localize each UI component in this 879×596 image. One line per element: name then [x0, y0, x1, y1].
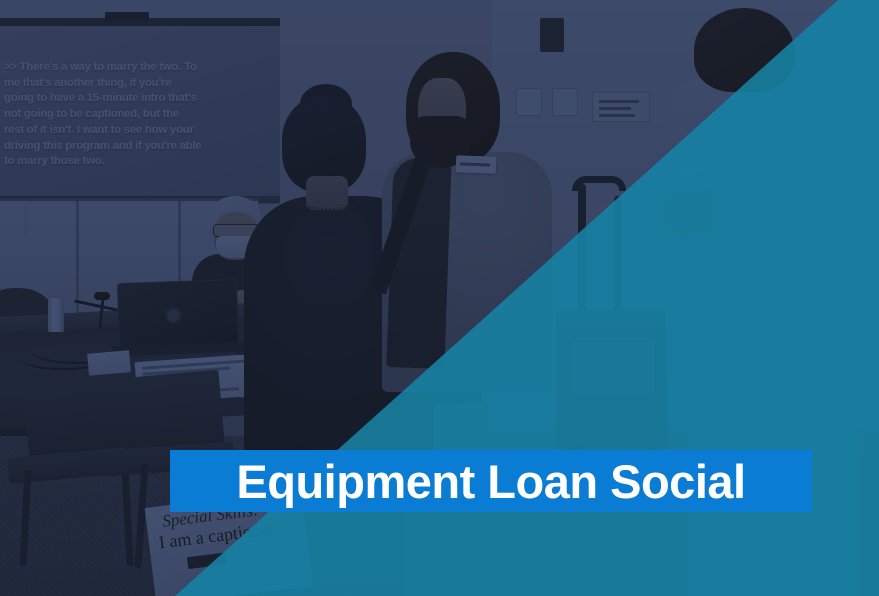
microphone-head [94, 292, 110, 300]
projector-screen: >> There's a way to marry the two. To me… [0, 26, 280, 202]
suitcase-handle-bar [578, 184, 586, 312]
projector-caption-text: >> There's a way to marry the two. To me… [4, 60, 204, 170]
wall-outlet [516, 88, 542, 116]
suitcase-handle-bar [614, 196, 621, 312]
title-banner-text: Equipment Loan Social [236, 458, 745, 505]
wall-switch-plate [540, 18, 564, 52]
name-badge [456, 155, 497, 173]
event-banner-graphic: >> There's a way to marry the two. To me… [0, 0, 879, 596]
wall-sign [592, 92, 650, 122]
glass-partition-mullion [76, 200, 79, 324]
projector-screen-mount [105, 12, 149, 21]
suitcase-front-panel [574, 338, 654, 394]
necklace [298, 190, 360, 210]
paper-sheet [87, 350, 131, 376]
title-banner: Equipment Loan Social [170, 450, 812, 512]
right-person-hand [661, 183, 718, 240]
soda-can [48, 298, 64, 332]
wall-outlet [552, 88, 578, 116]
captioner-sign-logo [187, 553, 226, 570]
right-person-hair [694, 8, 794, 92]
